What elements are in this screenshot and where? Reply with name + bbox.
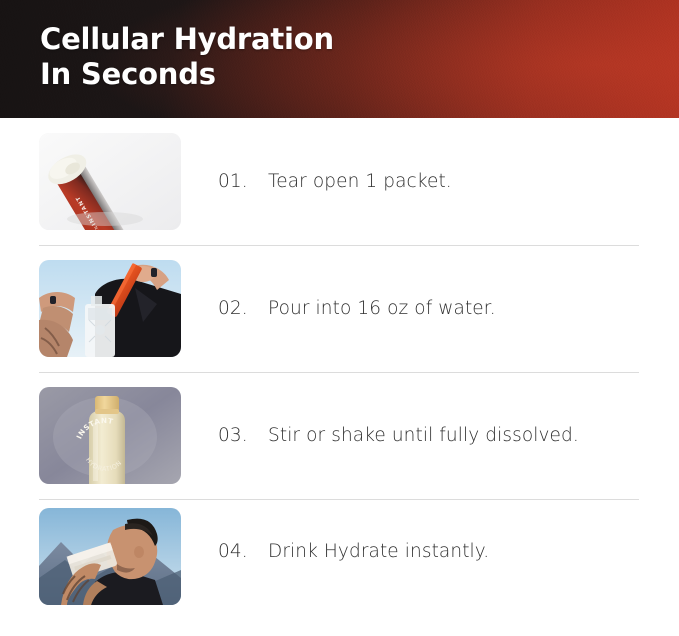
step-text: 04. Drink Hydrate instantly. xyxy=(218,541,489,562)
step-number: 02. xyxy=(218,298,268,319)
list-item: 02. Pour into 16 oz of water. xyxy=(0,245,679,372)
header-banner: Cellular Hydration In Seconds xyxy=(0,0,679,118)
step-number: 01. xyxy=(218,171,268,192)
page-title: Cellular Hydration In Seconds xyxy=(40,22,334,92)
step-thumbnail-cream-bottle-photo: INSTANT HYDRATION xyxy=(39,387,181,484)
list-item: INSTANT HYDRATION 03. Stir or shake unti… xyxy=(0,372,679,499)
step-text: 02. Pour into 16 oz of water. xyxy=(218,298,496,319)
list-item: INSTANT HYDRATION 01. Tear open 1 packet… xyxy=(0,118,679,245)
step-label: Pour into 16 oz of water. xyxy=(268,298,496,319)
instruction-steps-list: INSTANT HYDRATION 01. Tear open 1 packet… xyxy=(0,118,679,614)
step-label: Tear open 1 packet. xyxy=(268,171,452,192)
step-number: 04. xyxy=(218,541,268,562)
step-thumbnail-pouring-packet-into-bottle-photo xyxy=(39,260,181,357)
step-thumbnail-packet-with-powder-photo: INSTANT HYDRATION xyxy=(39,133,181,230)
step-thumbnail-man-drinking-photo xyxy=(39,508,181,605)
step-label: Stir or shake until fully dissolved. xyxy=(268,425,579,446)
step-label: Drink Hydrate instantly. xyxy=(268,541,489,562)
list-item: 04. Drink Hydrate instantly. xyxy=(0,499,679,614)
step-text: 03. Stir or shake until fully dissolved. xyxy=(218,425,579,446)
step-number: 03. xyxy=(218,425,268,446)
step-text: 01. Tear open 1 packet. xyxy=(218,171,452,192)
